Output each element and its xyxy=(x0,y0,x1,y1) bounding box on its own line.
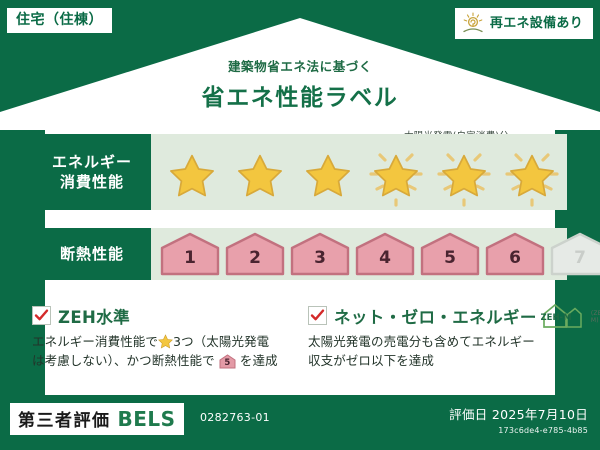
evaluation-date-value: 2025年7月10日 xyxy=(492,407,588,422)
insulation-level-6: 6 xyxy=(484,232,546,276)
star-4 xyxy=(363,143,429,207)
insulation-performance-label: 断熱性能 xyxy=(33,228,151,280)
star-icon xyxy=(437,151,491,201)
star-6 xyxy=(499,143,565,207)
evaluation-date: 評価日 2025年7月10日 xyxy=(449,404,588,423)
building-type-tag: 住宅（住棟） xyxy=(7,8,112,33)
bels-badge: 第三者評価 BELS xyxy=(10,403,184,435)
energy-performance-label: 住宅（住棟） 再エネ設備あり 建築物省エネ法に基づく 省エネ性能ラベル 太陽光発… xyxy=(0,0,600,450)
net-zero-line-2: 収支がゼロ以下を達成 xyxy=(308,353,434,368)
sun-icon xyxy=(461,12,485,34)
page-title: 建築物省エネ法に基づく 省エネ性能ラベル xyxy=(0,56,600,112)
criterion-net-zero-body: 太陽光発電の売電分も含めてエネルギー収支がゼロ以下を達成 xyxy=(308,332,570,371)
title-main: 省エネ性能ラベル xyxy=(0,78,600,112)
criterion-zeh-title: ZEH水準 xyxy=(58,304,130,328)
third-party-label: 第三者評価 xyxy=(18,406,111,431)
renewable-badge-label: 再エネ設備あり xyxy=(490,17,583,30)
star-icon xyxy=(301,151,355,201)
zeh-text-2: 3つ（太陽光発電 xyxy=(173,334,269,349)
evaluation-date-label: 評価日 xyxy=(449,407,487,422)
evaluation-info: 評価日 2025年7月10日 173c6de4-e785-4b85 xyxy=(449,404,588,435)
criterion-zeh-header: ZEH水準 xyxy=(32,305,294,326)
star-rating xyxy=(151,142,567,208)
energy-performance-value xyxy=(151,134,567,210)
energy-label-line2: 消費性能 xyxy=(60,172,124,192)
insulation-level-badge-value: 5 xyxy=(219,354,236,369)
insulation-level-number: 1 xyxy=(159,232,221,276)
title-subtitle: 建築物省エネ法に基づく xyxy=(0,56,600,75)
insulation-level-5: 5 xyxy=(419,232,481,276)
criterion-zeh: ZEH水準 エネルギー消費性能で3つ（太陽光発電は考慮しない）、かつ断熱性能で … xyxy=(32,305,294,371)
criterion-net-zero-header: ネット・ゼロ・エネルギー ZEH-M (ZEH-M) xyxy=(308,305,570,326)
insulation-level-number: 7 xyxy=(549,232,600,276)
insulation-level-2: 2 xyxy=(224,232,286,276)
insulation-label-line1: 断熱性能 xyxy=(60,244,124,264)
insulation-level-number: 2 xyxy=(224,232,286,276)
zeh-text-4: を達成 xyxy=(240,353,278,368)
bels-label: BELS xyxy=(118,407,176,431)
insulation-performance-value: 1234567 xyxy=(151,228,567,280)
criterion-zeh-body: エネルギー消費性能で3つ（太陽光発電は考慮しない）、かつ断熱性能で 5 を達成 xyxy=(32,332,294,371)
insulation-level-number: 4 xyxy=(354,232,416,276)
star-2 xyxy=(227,143,293,207)
insulation-level-4: 4 xyxy=(354,232,416,276)
document-hash: 173c6de4-e785-4b85 xyxy=(449,426,588,435)
star-icon xyxy=(165,151,219,201)
energy-label-line1: エネルギー xyxy=(52,152,132,172)
check-icon xyxy=(308,306,327,325)
certificate-number: 0282763-01 xyxy=(200,411,270,424)
star-5 xyxy=(431,143,497,207)
criterion-net-zero-title: ネット・ゼロ・エネルギー xyxy=(334,304,537,328)
insulation-level-number: 6 xyxy=(484,232,546,276)
star-icon xyxy=(158,334,173,349)
svg-text:ZEH-M: ZEH-M xyxy=(541,313,572,323)
star-1 xyxy=(159,143,225,207)
net-zero-line-1: 太陽光発電の売電分も含めてエネルギー xyxy=(308,334,535,349)
insulation-level-number: 5 xyxy=(419,232,481,276)
zeh-m-logo-icon: ZEH-M xyxy=(541,303,583,329)
energy-performance-row: エネルギー 消費性能 xyxy=(33,134,567,210)
insulation-level-badge: 5 xyxy=(219,354,236,369)
insulation-level-1: 1 xyxy=(159,232,221,276)
zeh-text-3: は考慮しない）、かつ断熱性能で xyxy=(32,353,215,368)
renewable-energy-badge: 再エネ設備あり xyxy=(455,8,593,39)
star-icon xyxy=(505,151,559,201)
zeh-m-logo-caption: (ZEH-M) xyxy=(591,310,600,326)
insulation-level-number: 3 xyxy=(289,232,351,276)
energy-performance-label: エネルギー 消費性能 xyxy=(33,134,151,210)
star-3 xyxy=(295,143,361,207)
star-icon xyxy=(233,151,287,201)
insulation-performance-row: 断熱性能 1234567 xyxy=(33,228,567,280)
insulation-level-7: 7 xyxy=(549,232,600,276)
zeh-text-1: エネルギー消費性能で xyxy=(32,334,158,349)
check-icon xyxy=(32,306,51,325)
star-icon xyxy=(369,151,423,201)
insulation-level-scale: 1234567 xyxy=(151,228,567,280)
criterion-net-zero: ネット・ゼロ・エネルギー ZEH-M (ZEH-M) 太陽光発電の売電分も含めて… xyxy=(308,305,570,371)
insulation-level-3: 3 xyxy=(289,232,351,276)
